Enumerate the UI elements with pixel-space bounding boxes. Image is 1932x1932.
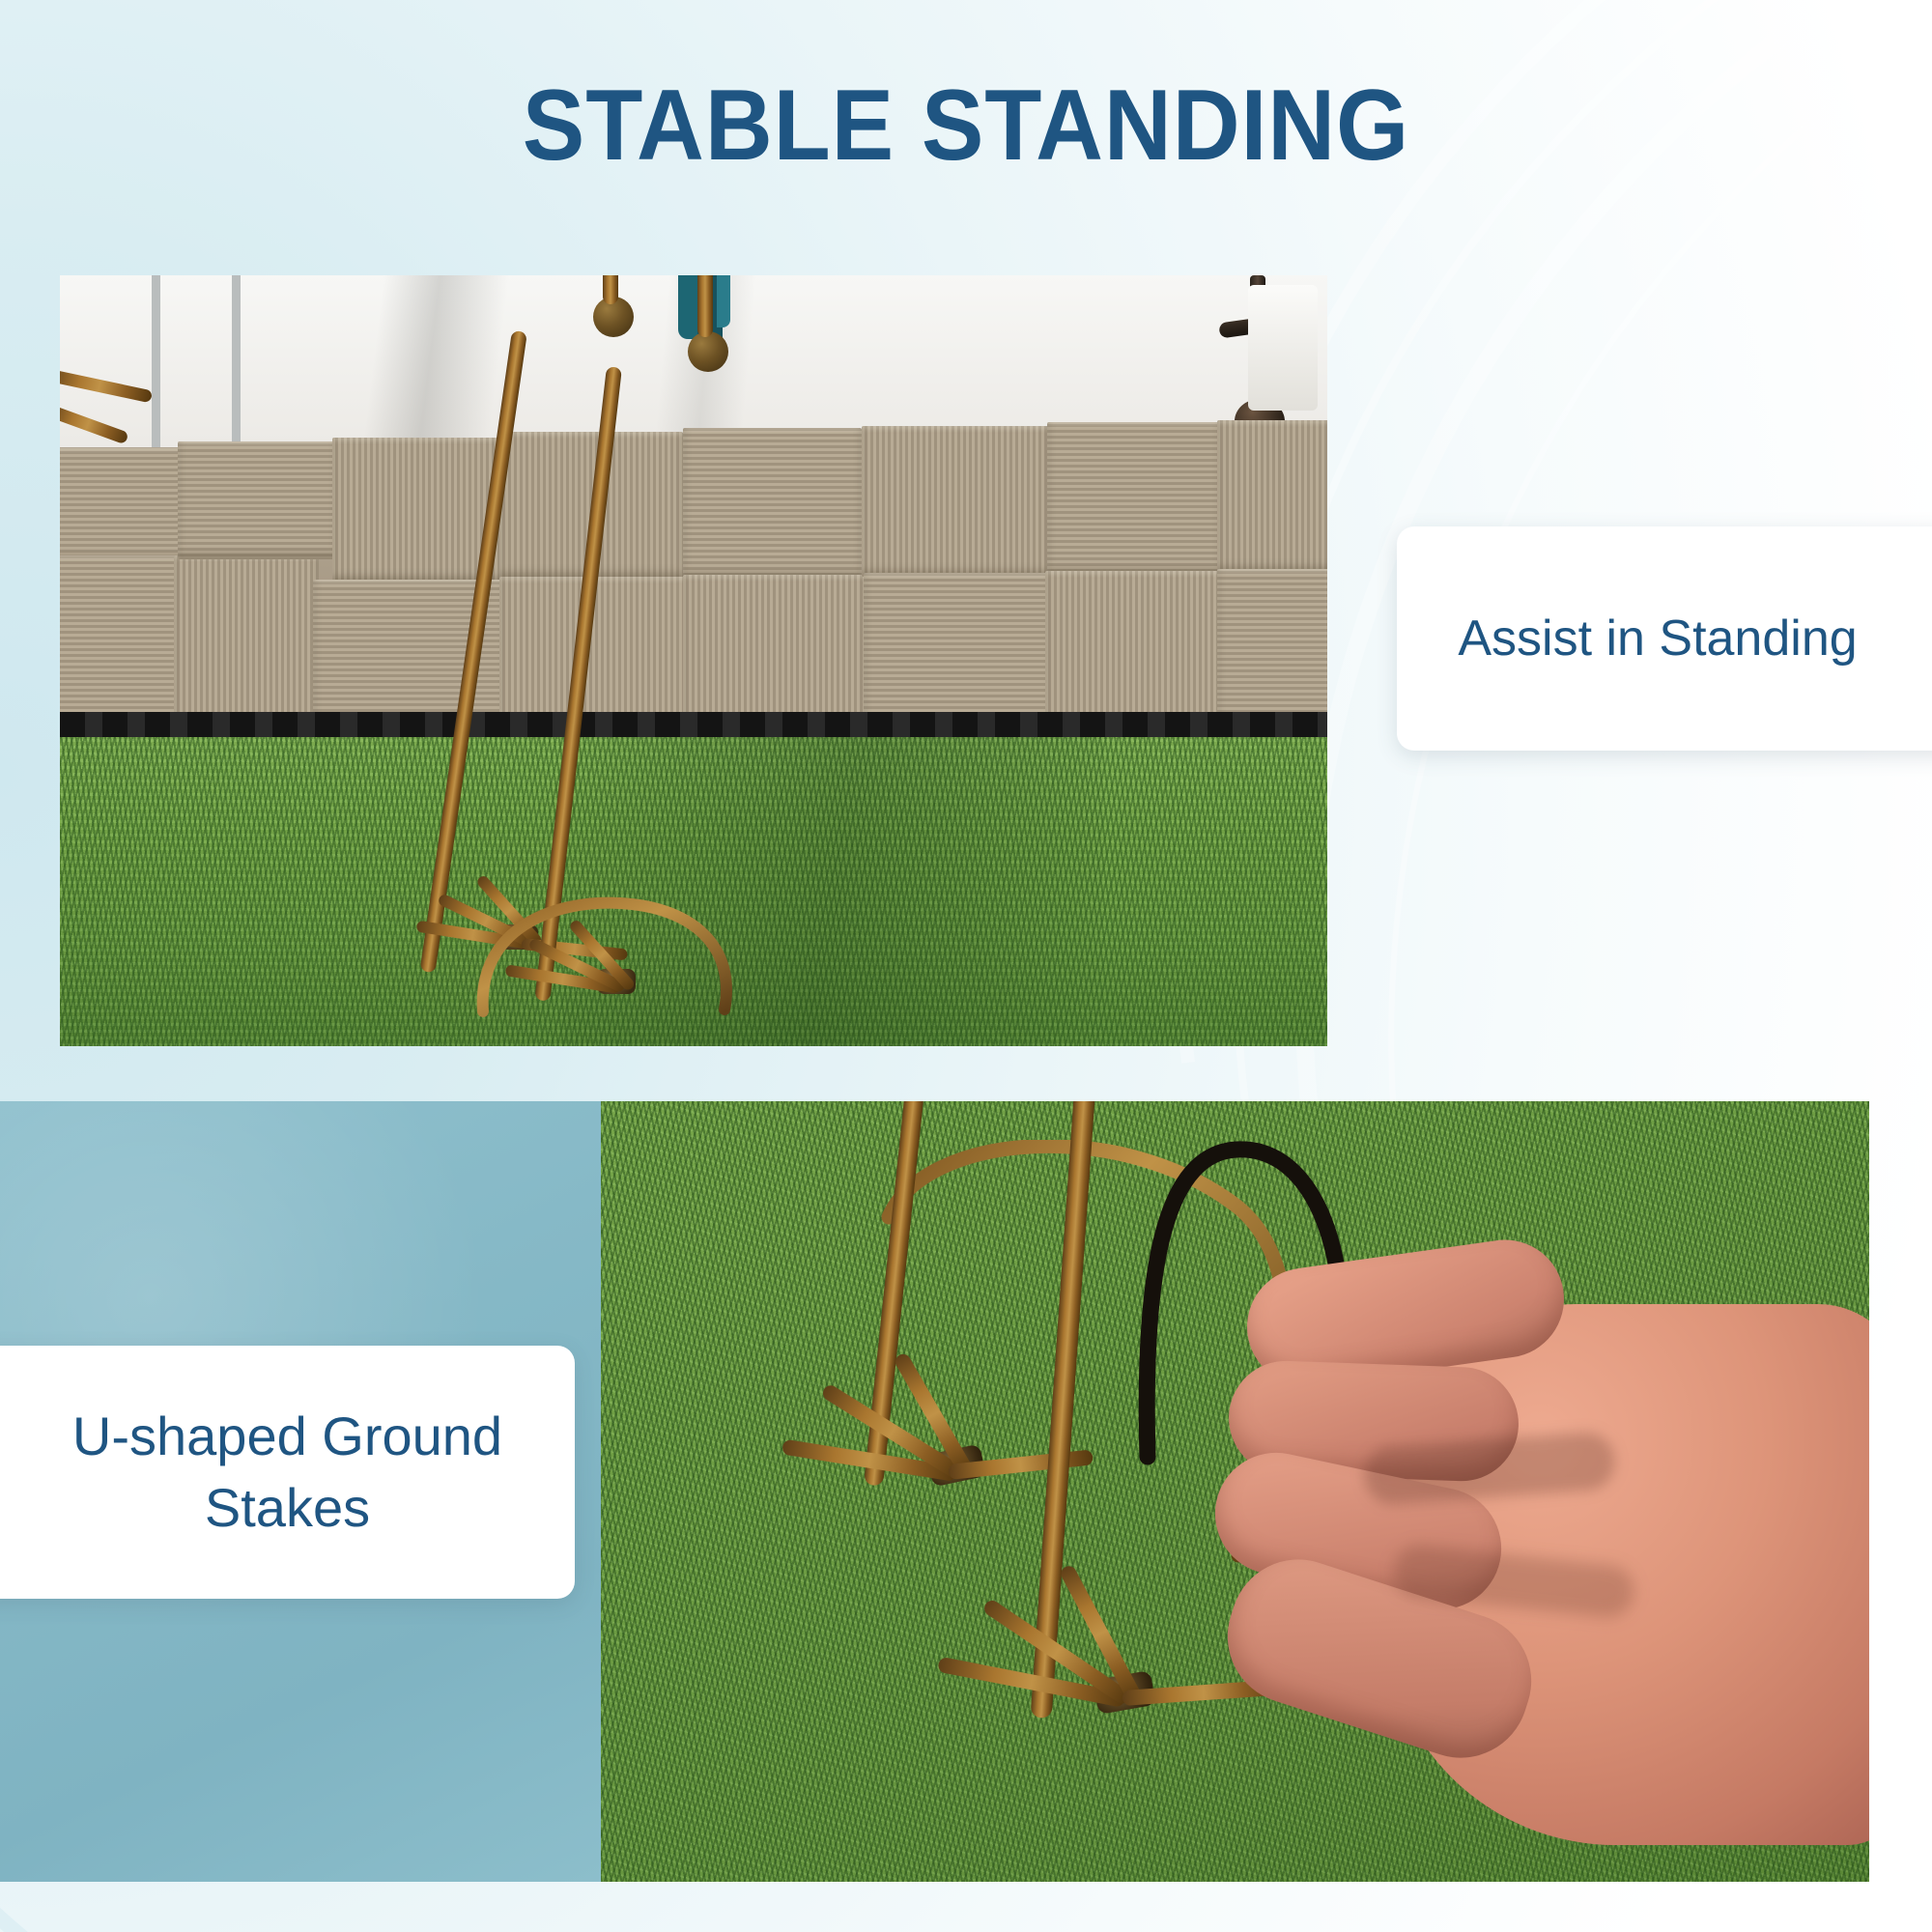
- deck-tile: [1045, 571, 1224, 727]
- deck-tile: [174, 555, 319, 727]
- photo-assist-in-standing: [60, 275, 1327, 1046]
- deck-tile: [683, 575, 867, 729]
- u-shaped-hoop-bronze: [466, 894, 746, 1019]
- pole-rod-right: [697, 275, 713, 337]
- callout-assist-in-standing: Assist in Standing: [1397, 526, 1932, 751]
- deck-tile: [683, 428, 862, 579]
- pole-finial-ball-right: [688, 331, 728, 372]
- hand: [1267, 1246, 1869, 1864]
- deck-plastic-base: [60, 712, 1327, 739]
- photo-u-shaped-ground-stakes: [601, 1101, 1869, 1882]
- page-title: STABLE STANDING: [68, 75, 1864, 176]
- deck-tile: [60, 555, 185, 729]
- deck-tile: [1217, 420, 1327, 573]
- callout-u-shaped-ground-stakes: U-shaped Ground Stakes: [0, 1346, 575, 1599]
- deck-tile: [864, 573, 1052, 729]
- deck-tile: [1047, 422, 1221, 575]
- deck-tile: [1217, 569, 1327, 727]
- deck-tile: [178, 441, 337, 559]
- callout-u-shaped-ground-stakes-label-line-1: U-shaped Ground: [0, 1401, 575, 1472]
- photo-top-white-object: [1248, 285, 1318, 411]
- deck-tile: [862, 426, 1050, 577]
- pole-rod-left: [603, 275, 618, 304]
- callout-assist-in-standing-label: Assist in Standing: [1458, 610, 1857, 668]
- callout-u-shaped-ground-stakes-label-line-2: Stakes: [0, 1472, 575, 1544]
